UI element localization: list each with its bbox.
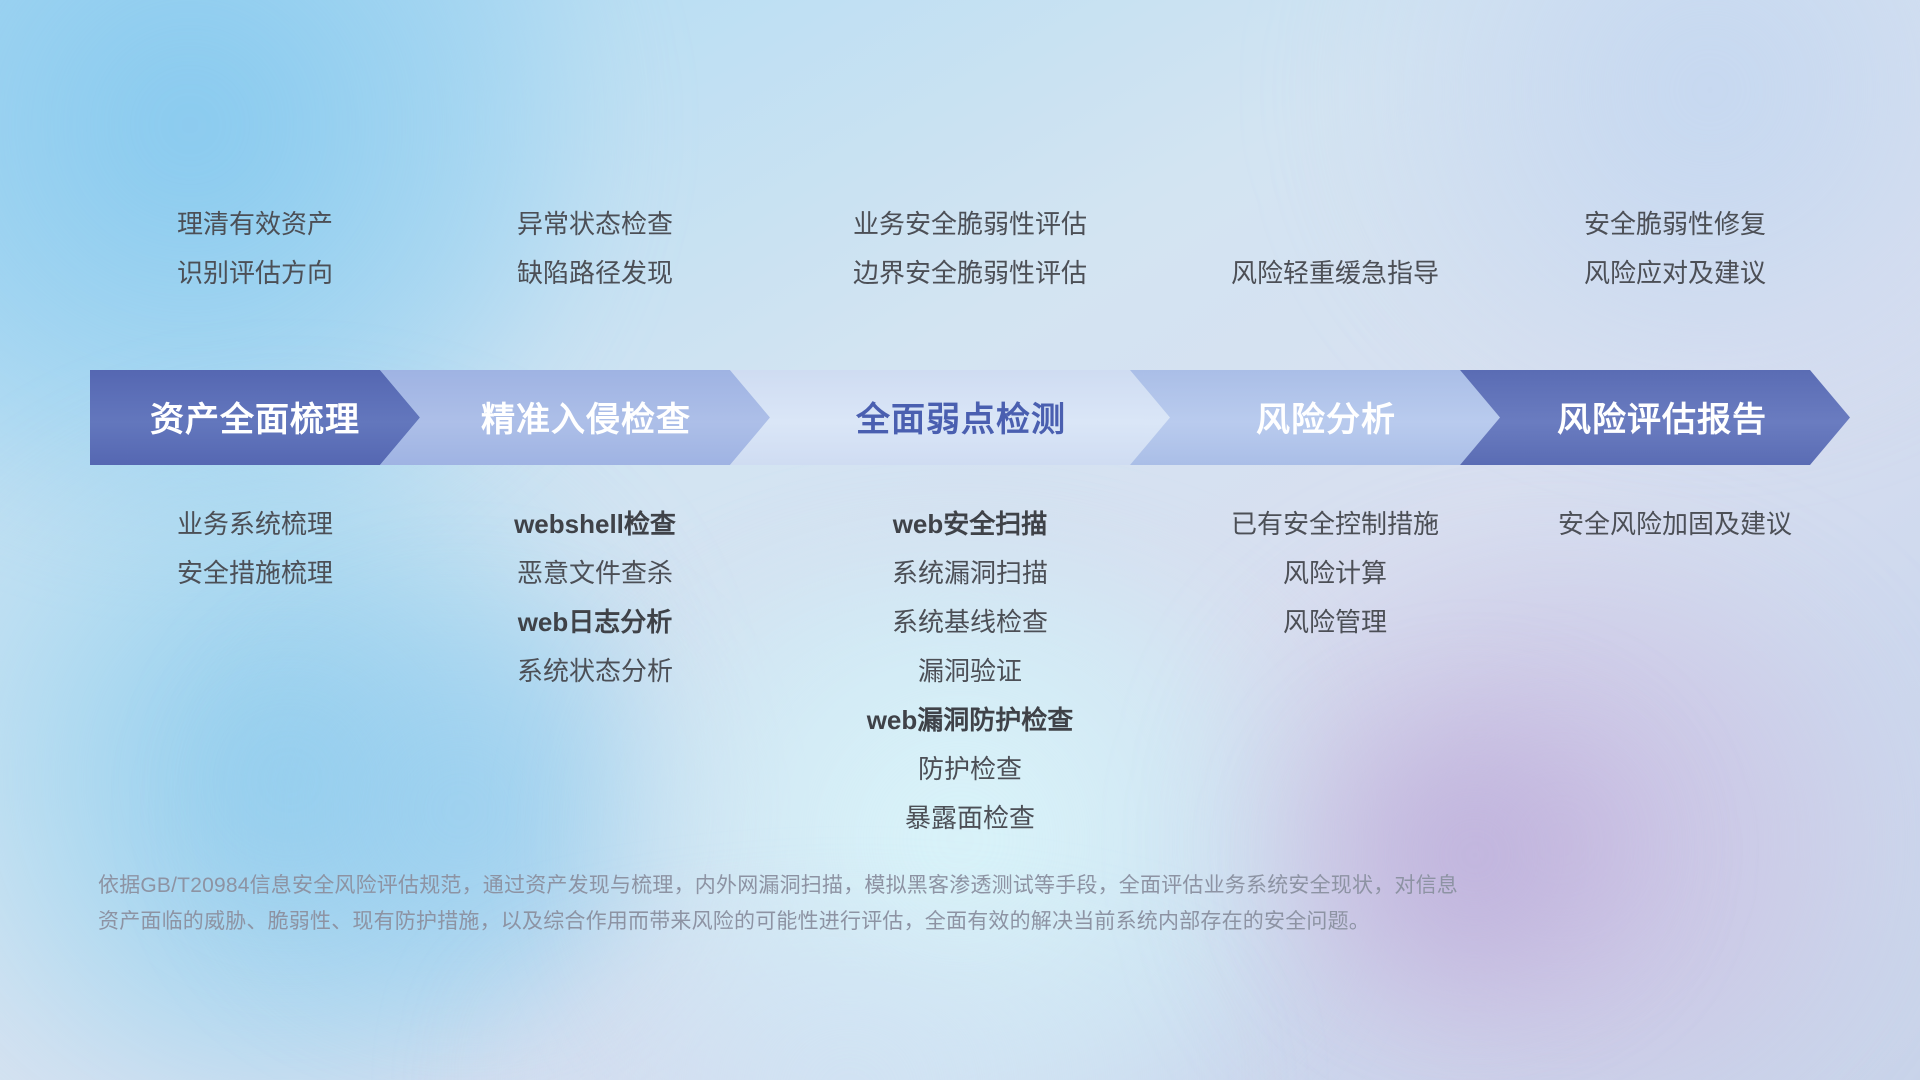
step-3-top-item: 业务安全脆弱性评估 xyxy=(853,200,1087,249)
step-4-bottom-item: 风险管理 xyxy=(1283,598,1387,647)
step-3-bottom-item: 系统基线检查 xyxy=(892,598,1048,647)
step-1-top-item: 识别评估方向 xyxy=(177,249,333,298)
slide-canvas: 理清有效资产识别评估方向异常状态检查缺陷路径发现业务安全脆弱性评估边界安全脆弱性… xyxy=(0,0,1920,1080)
step-3-top-item: 边界安全脆弱性评估 xyxy=(853,249,1087,298)
step-1-bottom-labels: 业务系统梳理安全措施梳理 xyxy=(90,500,420,598)
step-2-bottom-item: web日志分析 xyxy=(518,598,673,647)
footer-description: 依据GB/T20984信息安全风险评估规范，通过资产发现与梳理，内外网漏洞扫描，… xyxy=(98,868,1618,940)
step-5-top-item: 安全脆弱性修复 xyxy=(1584,200,1766,249)
step-2-bottom-item: 系统状态分析 xyxy=(517,647,673,696)
step-4-bottom-item: 风险计算 xyxy=(1283,549,1387,598)
step-5-bottom-labels: 安全风险加固及建议 xyxy=(1500,500,1850,549)
step-4-top-item: 风险轻重缓急指导 xyxy=(1231,249,1439,298)
step-4-bottom-item: 已有安全控制措施 xyxy=(1231,500,1439,549)
step-2-bottom-labels: webshell检查恶意文件查杀web日志分析系统状态分析 xyxy=(420,500,770,696)
step-1-top-labels: 理清有效资产识别评估方向 xyxy=(90,200,420,360)
process-step-5-title: 风险评估报告 xyxy=(1557,392,1767,441)
process-step-2-title: 精准入侵检查 xyxy=(481,392,691,441)
step-3-bottom-item: 防护检查 xyxy=(918,745,1022,794)
step-1-top-item: 理清有效资产 xyxy=(177,200,333,249)
step-5-top-item: 风险应对及建议 xyxy=(1584,249,1766,298)
process-step-4-title: 风险分析 xyxy=(1256,392,1396,441)
process-step-1-title: 资产全面梳理 xyxy=(150,392,360,441)
step-3-bottom-item: web漏洞防护检查 xyxy=(867,696,1074,745)
step-3-bottom-item: 漏洞验证 xyxy=(918,647,1022,696)
step-5-bottom-item: 安全风险加固及建议 xyxy=(1558,500,1792,549)
process-step-4[interactable]: 风险分析 xyxy=(1130,370,1500,465)
step-3-bottom-item: web安全扫描 xyxy=(893,500,1048,549)
bottom-label-row: 业务系统梳理安全措施梳理webshell检查恶意文件查杀web日志分析系统状态分… xyxy=(90,500,1850,843)
step-2-bottom-item: webshell检查 xyxy=(514,500,676,549)
step-3-top-labels: 业务安全脆弱性评估边界安全脆弱性评估 xyxy=(770,200,1170,360)
process-chevron-band: 资产全面梳理精准入侵检查全面弱点检测风险分析风险评估报告 xyxy=(90,370,1850,465)
step-1-bottom-item: 业务系统梳理 xyxy=(177,500,333,549)
process-step-1[interactable]: 资产全面梳理 xyxy=(90,370,420,465)
process-step-3-title: 全面弱点检测 xyxy=(856,392,1066,441)
step-2-top-labels: 异常状态检查缺陷路径发现 xyxy=(420,200,770,360)
step-1-bottom-item: 安全措施梳理 xyxy=(177,549,333,598)
step-4-top-labels: 风险轻重缓急指导 xyxy=(1170,200,1500,360)
footer-line-1: 依据GB/T20984信息安全风险评估规范，通过资产发现与梳理，内外网漏洞扫描，… xyxy=(98,868,1618,904)
process-step-3[interactable]: 全面弱点检测 xyxy=(730,370,1170,465)
step-2-top-item: 异常状态检查 xyxy=(517,200,673,249)
footer-line-2: 资产面临的威胁、脆弱性、现有防护措施，以及综合作用而带来风险的可能性进行评估，全… xyxy=(98,904,1618,940)
step-3-bottom-item: 系统漏洞扫描 xyxy=(892,549,1048,598)
step-3-bottom-labels: web安全扫描系统漏洞扫描系统基线检查漏洞验证web漏洞防护检查防护检查暴露面检… xyxy=(770,500,1170,843)
step-4-bottom-labels: 已有安全控制措施风险计算风险管理 xyxy=(1170,500,1500,647)
top-label-row: 理清有效资产识别评估方向异常状态检查缺陷路径发现业务安全脆弱性评估边界安全脆弱性… xyxy=(90,200,1850,360)
step-2-top-item: 缺陷路径发现 xyxy=(517,249,673,298)
process-step-2[interactable]: 精准入侵检查 xyxy=(380,370,770,465)
step-3-bottom-item: 暴露面检查 xyxy=(905,794,1035,843)
process-step-5[interactable]: 风险评估报告 xyxy=(1460,370,1850,465)
step-5-top-labels: 安全脆弱性修复风险应对及建议 xyxy=(1500,200,1850,360)
step-2-bottom-item: 恶意文件查杀 xyxy=(517,549,673,598)
